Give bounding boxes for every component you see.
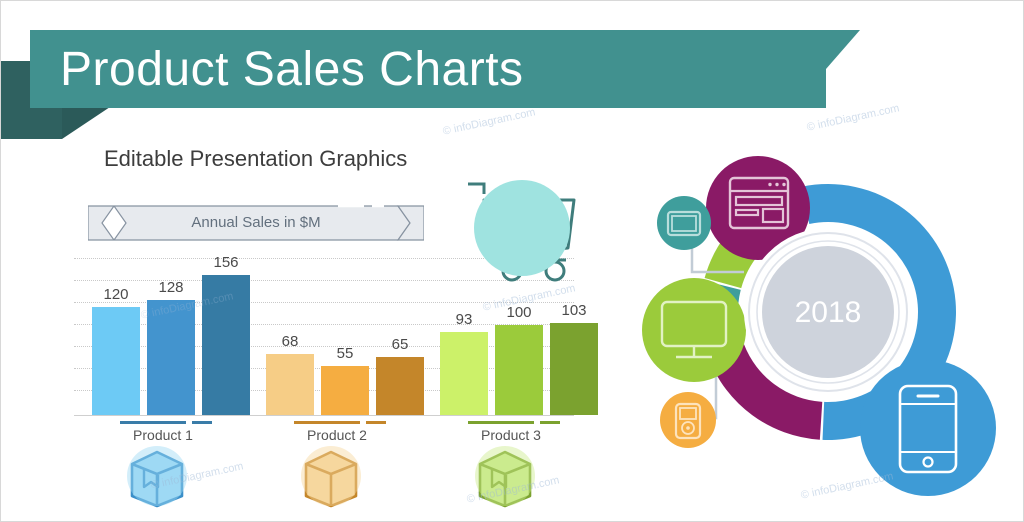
chart-baseline (74, 415, 574, 416)
package-box-product-2 (292, 442, 370, 512)
bar-value-label: 100 (489, 304, 549, 321)
bar-value-label: 55 (315, 345, 375, 362)
category-underline (120, 421, 186, 424)
donut-diagram: 2018 (632, 150, 1024, 522)
bar-value-label: 65 (370, 336, 430, 353)
bar-product-3-2[interactable] (495, 325, 543, 415)
bar-product-1-2[interactable] (147, 300, 195, 415)
bar-product-3-1[interactable] (440, 332, 488, 415)
box-halo (127, 446, 187, 506)
bar-product-2-3[interactable] (376, 357, 424, 415)
watermark: © infoDiagram.com (442, 106, 537, 137)
monitor-bubble[interactable] (642, 278, 746, 382)
bar-product-1-3[interactable] (202, 275, 250, 415)
package-box-product-3 (466, 442, 544, 512)
slide-canvas: Product Sales Charts Editable Presentati… (0, 0, 1024, 522)
category-underline (294, 421, 360, 424)
category-underline (540, 421, 560, 424)
bar-value-label: 103 (544, 302, 604, 319)
category-label: Product 2 (267, 427, 407, 443)
cart-disc (474, 180, 570, 276)
package-box-product-1 (118, 442, 196, 512)
page-title: Product Sales Charts (60, 42, 524, 98)
bar-product-1-1[interactable] (92, 307, 140, 415)
bar-value-label: 156 (196, 254, 256, 271)
box-halo (475, 446, 535, 506)
chart-title-ribbon: Annual Sales in $M (88, 203, 424, 243)
media-player-bubble[interactable] (660, 392, 716, 448)
bar-product-2-2[interactable] (321, 366, 369, 415)
donut-center-label: 2018 (795, 296, 862, 329)
category-underline (468, 421, 534, 424)
bar-value-label: 68 (260, 333, 320, 350)
bar-product-2-1[interactable] (266, 354, 314, 415)
bar-value-label: 120 (86, 286, 146, 303)
smartphone-bubble[interactable] (860, 360, 996, 496)
banner-fold-shadow (62, 107, 110, 139)
bar-value-label: 93 (434, 311, 494, 328)
bar-product-3-3[interactable] (550, 323, 598, 415)
category-label: Product 3 (441, 427, 581, 443)
box-halo (301, 446, 361, 506)
category-underline (366, 421, 386, 424)
donut-svg: 2018 (632, 150, 1024, 522)
ribbon-label: Annual Sales in $M (88, 214, 424, 231)
shopping-cart-icon (462, 172, 590, 284)
category-label: Product 1 (93, 427, 233, 443)
page-subtitle: Editable Presentation Graphics (104, 146, 407, 172)
tablet-bubble[interactable] (657, 196, 711, 250)
bar-value-label: 128 (141, 279, 201, 296)
category-underline (192, 421, 212, 424)
